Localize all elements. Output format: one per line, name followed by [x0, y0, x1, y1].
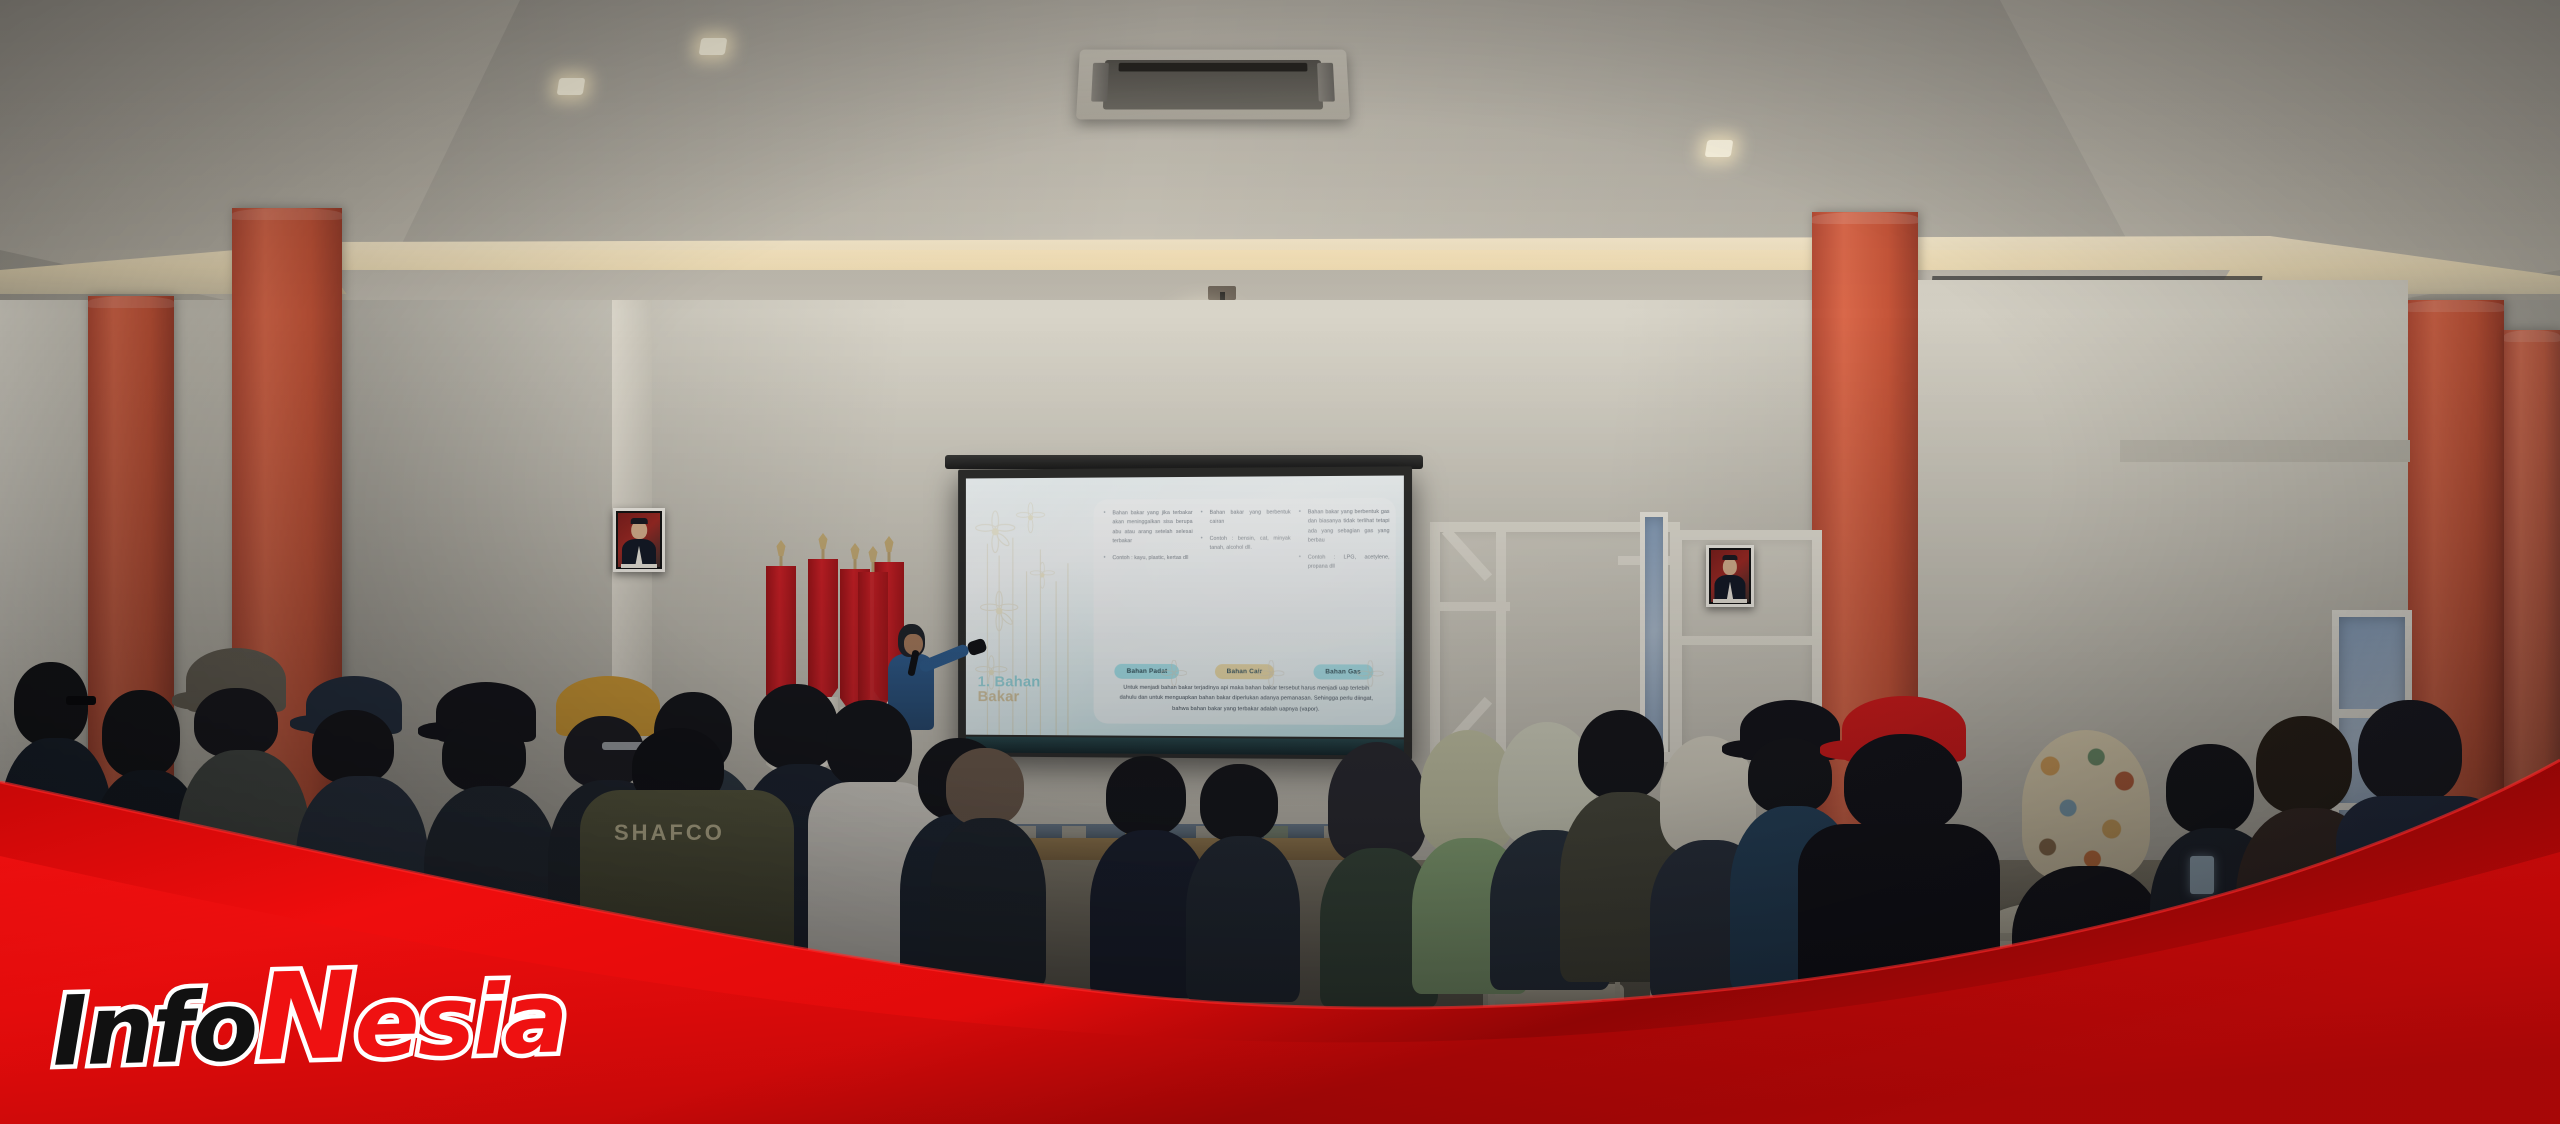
audience-member-red-cap — [1798, 696, 1998, 996]
slide-content-card: Bahan bakar yang jika terbakar akan meni… — [1094, 498, 1396, 725]
air-conditioner-icon — [1076, 50, 1350, 120]
audience-member — [424, 682, 556, 958]
framed-portrait-right — [1706, 545, 1754, 607]
downlight-icon — [699, 38, 728, 55]
seminar-room: 1. Bahan Bakar Bahan bakar yang jika ter… — [0, 0, 2560, 1124]
photo-canvas: 1. Bahan Bakar Bahan bakar yang jika ter… — [0, 0, 2560, 1124]
slide-title: 1. Bahan Bakar — [978, 674, 1098, 706]
audience-member — [930, 748, 1044, 988]
screen-surface: 1. Bahan Bakar Bahan bakar yang jika ter… — [966, 475, 1404, 737]
hijab — [2022, 730, 2150, 880]
slide-column-liquid: Bahan bakar yang berbentuk cairan Contoh… — [1199, 508, 1291, 659]
ac-vent-left — [1091, 63, 1109, 102]
bullet-text: Bahan bakar yang berbentuk cairan — [1199, 508, 1291, 527]
slide-title-line1: 1. Bahan — [978, 674, 1098, 690]
slide-column-solid: Bahan bakar yang jika terbakar akan meni… — [1102, 509, 1193, 659]
slide-category-pills: Bahan Padat Bahan Cair — [1102, 659, 1390, 684]
downlight-icon — [1705, 140, 1734, 157]
slide-column-gas: Bahan bakar yang berbentuk gas dan biasa… — [1297, 508, 1390, 660]
presentation-slide: 1. Bahan Bakar Bahan bakar yang jika ter… — [966, 475, 1404, 737]
projection-screen[interactable]: 1. Bahan Bakar Bahan bakar yang jika ter… — [958, 466, 1412, 759]
audience-member — [2336, 700, 2506, 1000]
pill-wrap-gas: Bahan Gas — [1297, 664, 1390, 679]
bullet-text: Contoh : kayu, plastic, kertas dll — [1102, 554, 1193, 564]
bullet-text: Bahan bakar yang jika terbakar akan meni… — [1102, 509, 1193, 547]
wall-ledge-right — [2120, 440, 2410, 462]
ac-louver — [1118, 63, 1307, 72]
bullet-text: Contoh : LPG, acetylene, propana dll — [1297, 553, 1390, 572]
ac-vent-right — [1317, 63, 1335, 102]
pill-wrap-solid: Bahan Padat — [1102, 663, 1193, 678]
smartphone-icon — [2190, 856, 2214, 894]
slide-title-line2: Bakar — [978, 689, 1098, 705]
flower-accent-icon — [1357, 660, 1383, 686]
downlight-icon — [557, 78, 586, 95]
bullet-text: Bahan bakar yang berbentuk gas dan biasa… — [1297, 508, 1390, 546]
bullet-text: Contoh : bensin, cat, minyak tanah, alco… — [1199, 534, 1291, 553]
flower-accent-icon — [1258, 660, 1284, 686]
flower-accent-icon — [1161, 659, 1187, 685]
audience-member-shafco-jacket: SHAFCO — [580, 790, 790, 1050]
slide-columns: Bahan bakar yang jika terbakar akan meni… — [1102, 508, 1390, 660]
drink-can — [1600, 1000, 1622, 1044]
audience-member — [178, 648, 308, 928]
framed-portrait-left — [613, 508, 665, 572]
column-edge-right — [2504, 330, 2560, 890]
slide-footer-text: Untuk menjadi bahan bakar terjadinya api… — [1115, 683, 1377, 715]
audience-member — [296, 676, 426, 946]
pill-wrap-liquid: Bahan Cair — [1199, 664, 1291, 679]
audience-member-patterned-hijab — [2012, 730, 2162, 1010]
audience-member — [1186, 764, 1298, 1000]
jacket-text-shafco: SHAFCO — [614, 820, 725, 846]
